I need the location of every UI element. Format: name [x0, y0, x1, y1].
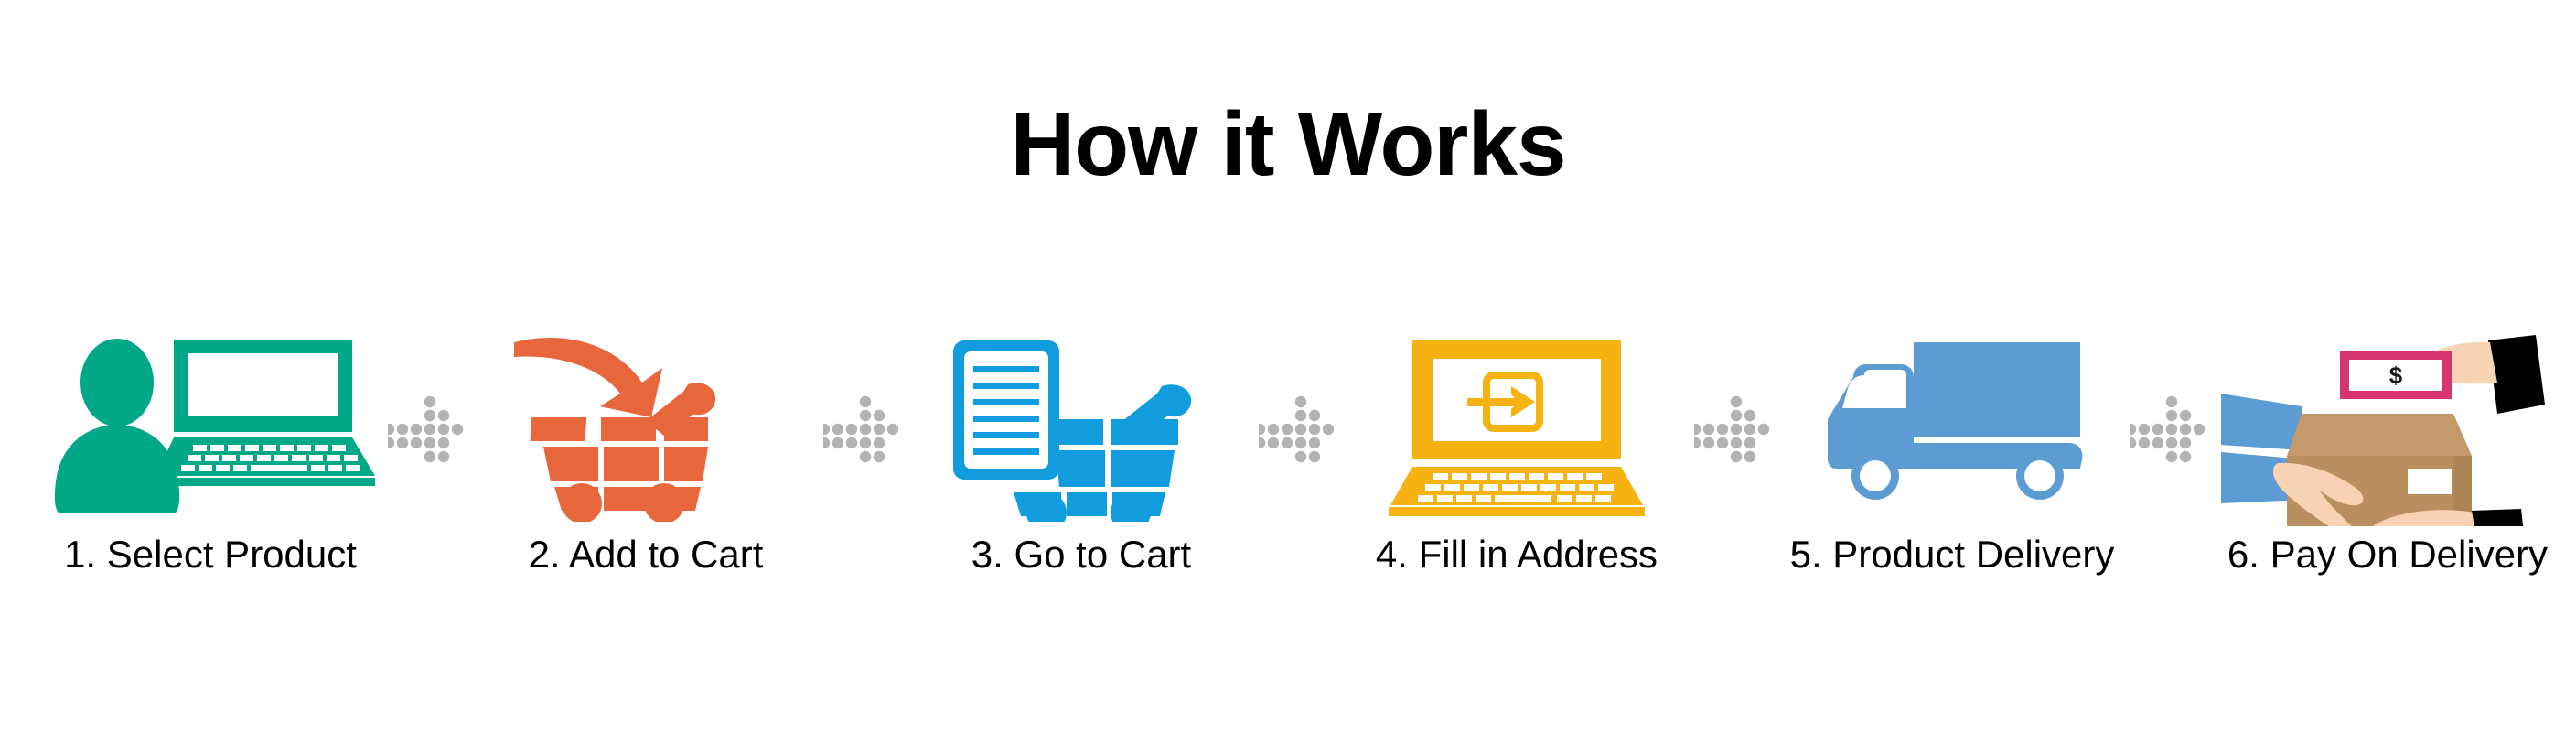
- step-3-go-to-cart[interactable]: 3. Go to Cart: [907, 329, 1255, 604]
- steps-strip: 1. Select Product: [37, 329, 2543, 604]
- delivery-truck-icon: [1778, 329, 2126, 522]
- laptop-with-login-arrow-icon: [1343, 329, 1690, 522]
- money-note: $: [2340, 351, 2452, 399]
- step-5-label: 5. Product Delivery: [1778, 533, 2126, 577]
- step-5-product-delivery[interactable]: 5. Product Delivery: [1778, 329, 2126, 604]
- dotted-arrow-right-icon: [1255, 329, 1343, 604]
- step-4-label: 4. Fill in Address: [1343, 533, 1690, 577]
- hands-exchanging-box-and-cash-icon: $: [2214, 329, 2561, 522]
- dotted-arrow-right-icon: [2126, 329, 2214, 604]
- document-with-cart-icon: [907, 329, 1255, 522]
- infographic-root: How it Works: [0, 0, 2576, 745]
- step-1-select-product[interactable]: 1. Select Product: [37, 329, 384, 604]
- person-with-laptop-icon: [37, 329, 384, 522]
- step-2-add-to-cart[interactable]: 2. Add to Cart: [472, 329, 820, 604]
- step-3-label: 3. Go to Cart: [907, 533, 1255, 577]
- dotted-arrow-right-icon: [384, 329, 472, 604]
- page-title: How it Works: [0, 99, 2576, 189]
- shopping-cart-with-arrow-icon: [472, 329, 820, 522]
- step-6-label: 6. Pay On Delivery: [2214, 533, 2561, 577]
- dotted-arrow-right-icon: [1690, 329, 1778, 604]
- step-4-fill-in-address[interactable]: 4. Fill in Address: [1343, 329, 1690, 604]
- dotted-arrow-right-icon: [820, 329, 907, 604]
- money-symbol: $: [2389, 362, 2403, 389]
- step-6-pay-on-delivery[interactable]: $: [2214, 329, 2561, 604]
- step-1-label: 1. Select Product: [37, 533, 384, 577]
- step-2-label: 2. Add to Cart: [472, 533, 820, 577]
